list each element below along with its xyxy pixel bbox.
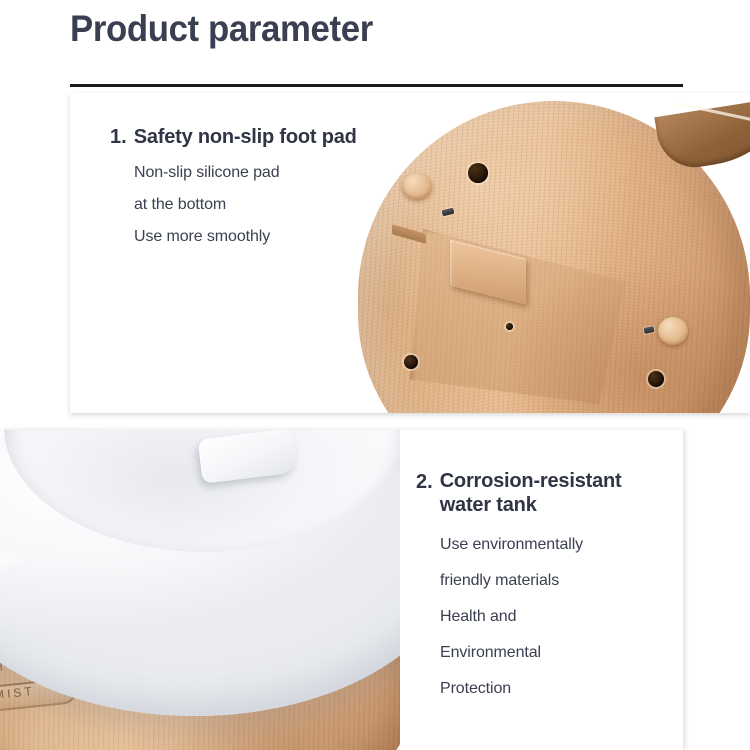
title-divider: [70, 84, 683, 87]
diffuser-underside-photo: [330, 93, 750, 413]
screw-hole-left: [404, 355, 418, 369]
feature-2-text-block: 2. Corrosion-resistant water tank Use en…: [416, 470, 678, 697]
feature-2-line-5: Protection: [440, 681, 678, 697]
feature-2-heading-row: 2. Corrosion-resistant water tank: [416, 470, 678, 517]
silicone-foot-pad-right: [658, 317, 688, 345]
water-tank-filling-photo: H ON MIST: [0, 430, 400, 750]
water-tank-outer-shell: [0, 430, 400, 716]
feature-2-line-2: friendly materials: [440, 573, 678, 589]
feature-2-line-4: Environmental: [440, 645, 678, 661]
feature-card-2: H ON MIST 2. Corrosion-resistant water t…: [0, 430, 683, 750]
feature-2-number: 2.: [416, 470, 433, 494]
silicone-foot-pad-left: [402, 173, 432, 199]
feature-2-heading: Corrosion-resistant water tank: [440, 470, 678, 517]
feature-2-line-1: Use environmentally: [440, 537, 678, 553]
feature-1-heading: Safety non-slip foot pad: [134, 125, 357, 149]
page-title: Product parameter: [70, 8, 373, 50]
feature-1-number: 1.: [110, 125, 127, 149]
feature-2-line-3: Health and: [440, 609, 678, 625]
fan-vent: [496, 353, 606, 413]
screw-hole-right: [648, 371, 664, 387]
feature-card-1: 1. Safety non-slip foot pad Non-slip sil…: [70, 93, 750, 413]
diffuser-base-dome: [358, 101, 750, 413]
screw-hole-top: [468, 163, 488, 183]
screw-hole-center: [506, 323, 513, 330]
